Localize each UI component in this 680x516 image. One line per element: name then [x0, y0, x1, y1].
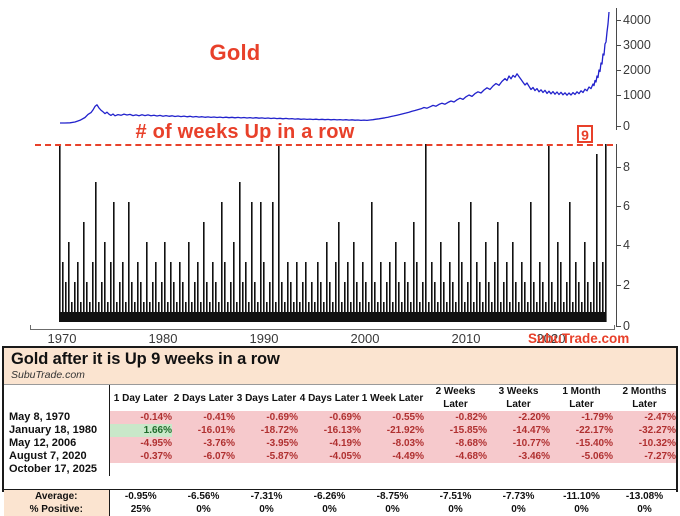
row-date: October 17, 2025	[4, 463, 109, 476]
table-row: January 18, 1980 1.66% -16.01% -18.72% -…	[4, 424, 676, 437]
gold-price-axis: 4000 3000 2000 1000 0	[610, 0, 680, 132]
cell-value: -0.69%	[298, 411, 361, 424]
cell-value: -4.05%	[298, 450, 361, 463]
table-row: May 12, 2006 -4.95% -3.76% -3.95% -4.19%…	[4, 437, 676, 450]
cell-value: -2.20%	[487, 411, 550, 424]
streak-axis-line	[616, 144, 617, 326]
table-row: May 8, 1970 -0.14% -0.41% -0.69% -0.69% …	[4, 411, 676, 424]
summary-value: 0%	[613, 503, 676, 516]
cell-value	[424, 463, 487, 476]
stats-table: 1 Day Later 2 Days Later 3 Days Later 4 …	[4, 385, 676, 516]
column-header-2-days: 2 Days Later	[172, 385, 235, 411]
summary-row-average: Average: -0.95% -6.56% -7.31% -6.26% -8.…	[4, 489, 676, 503]
streak-bar-chart	[35, 144, 610, 322]
cell-value: -16.01%	[172, 424, 235, 437]
column-header-3-weeks: 3 Weeks Later	[487, 385, 550, 411]
cell-value: -0.82%	[424, 411, 487, 424]
row-date: August 7, 2020	[4, 450, 109, 463]
cell-value	[550, 463, 613, 476]
price-tick-1000: 1000	[623, 88, 651, 102]
cell-value: -16.13%	[298, 424, 361, 437]
streak-tick-6: 6	[623, 199, 630, 213]
row-date: May 8, 1970	[4, 411, 109, 424]
summary-value: -11.10%	[550, 489, 613, 503]
summary-value: 0%	[487, 503, 550, 516]
column-header-3-days: 3 Days Later	[235, 385, 298, 411]
cell-value	[235, 463, 298, 476]
summary-value: -6.56%	[172, 489, 235, 503]
column-header-1-day: 1 Day Later	[109, 385, 172, 411]
cell-value	[298, 463, 361, 476]
cell-value: -14.47%	[487, 424, 550, 437]
streak-threshold-line	[35, 144, 613, 146]
cell-value: -10.77%	[487, 437, 550, 450]
cell-value: -3.95%	[235, 437, 298, 450]
column-header-date	[4, 385, 109, 411]
x-axis-line	[30, 329, 615, 330]
column-header-1-week: 1 Week Later	[361, 385, 424, 411]
streak-threshold-badge: 9	[577, 125, 593, 143]
column-header-2-months: 2 Months Later	[613, 385, 676, 411]
cell-value: -4.68%	[424, 450, 487, 463]
gold-streak-infographic: Gold # of weeks Up in a row 4000 3000 20…	[0, 0, 680, 494]
summary-value: 0%	[298, 503, 361, 516]
cell-value: -2.47%	[613, 411, 676, 424]
column-header-2-weeks: 2 Weeks Later	[424, 385, 487, 411]
stats-table-body: May 8, 1970 -0.14% -0.41% -0.69% -0.69% …	[4, 411, 676, 516]
cell-value	[109, 463, 172, 476]
cell-value: -18.72%	[235, 424, 298, 437]
summary-value: 0%	[235, 503, 298, 516]
cell-value: -8.68%	[424, 437, 487, 450]
cell-value: -4.95%	[109, 437, 172, 450]
streak-tick-2: 2	[623, 278, 630, 292]
gold-price-panel	[35, 4, 610, 126]
cell-value: -6.07%	[172, 450, 235, 463]
cell-value: -4.19%	[298, 437, 361, 450]
streak-bars-panel	[35, 144, 610, 322]
summary-value: -7.73%	[487, 489, 550, 503]
cell-value: -4.49%	[361, 450, 424, 463]
cell-value: -15.40%	[550, 437, 613, 450]
summary-value: 0%	[424, 503, 487, 516]
summary-value: -6.26%	[298, 489, 361, 503]
cell-value	[613, 463, 676, 476]
price-tick-0: 0	[623, 119, 630, 133]
x-tick-2010: 2010	[452, 331, 481, 346]
stats-table-header: Gold after it is Up 9 weeks in a row Sub…	[4, 348, 676, 385]
summary-value: -8.75%	[361, 489, 424, 503]
cell-value: -10.32%	[613, 437, 676, 450]
chart-brand-watermark: SubuTrade.com	[528, 331, 629, 346]
summary-label: % Positive:	[4, 503, 109, 516]
summary-value: -0.95%	[109, 489, 172, 503]
cell-value: -3.46%	[487, 450, 550, 463]
summary-label: Average:	[4, 489, 109, 503]
x-tick-1970: 1970	[48, 331, 77, 346]
cell-value: -32.27%	[613, 424, 676, 437]
streak-axis: 8 6 4 2 0	[610, 140, 680, 330]
summary-value: -7.51%	[424, 489, 487, 503]
table-row: August 7, 2020 -0.37% -6.07% -5.87% -4.0…	[4, 450, 676, 463]
cell-value	[172, 463, 235, 476]
price-axis-line	[616, 8, 617, 130]
cell-value: -0.14%	[109, 411, 172, 424]
column-header-1-month: 1 Month Later	[550, 385, 613, 411]
cell-value: -22.17%	[550, 424, 613, 437]
gold-price-series	[60, 12, 609, 123]
cell-value: -1.79%	[550, 411, 613, 424]
table-row-current: October 17, 2025	[4, 463, 676, 476]
cell-value: 1.66%	[109, 424, 172, 437]
cell-value	[487, 463, 550, 476]
streak-tick-4: 4	[623, 238, 630, 252]
cell-value: -5.87%	[235, 450, 298, 463]
stats-table-brand: SubuTrade.com	[11, 369, 85, 381]
cell-value: -15.85%	[424, 424, 487, 437]
column-header-4-days: 4 Days Later	[298, 385, 361, 411]
summary-value: -7.31%	[235, 489, 298, 503]
row-date: May 12, 2006	[4, 437, 109, 450]
stats-table-title: Gold after it is Up 9 weeks in a row	[11, 350, 280, 369]
summary-value: 25%	[109, 503, 172, 516]
price-tick-2000: 2000	[623, 63, 651, 77]
summary-value: 0%	[361, 503, 424, 516]
cell-value: -21.92%	[361, 424, 424, 437]
row-date: January 18, 1980	[4, 424, 109, 437]
cell-value: -0.37%	[109, 450, 172, 463]
cell-value: -3.76%	[172, 437, 235, 450]
x-tick-1990: 1990	[250, 331, 279, 346]
price-tick-4000: 4000	[623, 13, 651, 27]
summary-value: 0%	[550, 503, 613, 516]
summary-value: -13.08%	[613, 489, 676, 503]
cell-value: -7.27%	[613, 450, 676, 463]
x-tick-1980: 1980	[149, 331, 178, 346]
cell-value: -8.03%	[361, 437, 424, 450]
stats-table-column-headers: 1 Day Later 2 Days Later 3 Days Later 4 …	[4, 385, 676, 411]
streak-bar-series	[59, 144, 607, 322]
cell-value: -0.55%	[361, 411, 424, 424]
cell-value: -0.41%	[172, 411, 235, 424]
streak-tick-8: 8	[623, 160, 630, 174]
chart-area: Gold # of weeks Up in a row 4000 3000 20…	[0, 0, 680, 345]
x-tick-2000: 2000	[351, 331, 380, 346]
cell-value: -0.69%	[235, 411, 298, 424]
stats-table-panel: Gold after it is Up 9 weeks in a row Sub…	[2, 346, 678, 492]
gold-price-line-chart	[35, 4, 610, 126]
cell-value: -5.06%	[550, 450, 613, 463]
summary-row-percent-positive: % Positive: 25% 0% 0% 0% 0% 0% 0% 0% 0%	[4, 503, 676, 516]
cell-value	[361, 463, 424, 476]
summary-value: 0%	[172, 503, 235, 516]
table-separator	[4, 476, 676, 489]
price-tick-3000: 3000	[623, 38, 651, 52]
